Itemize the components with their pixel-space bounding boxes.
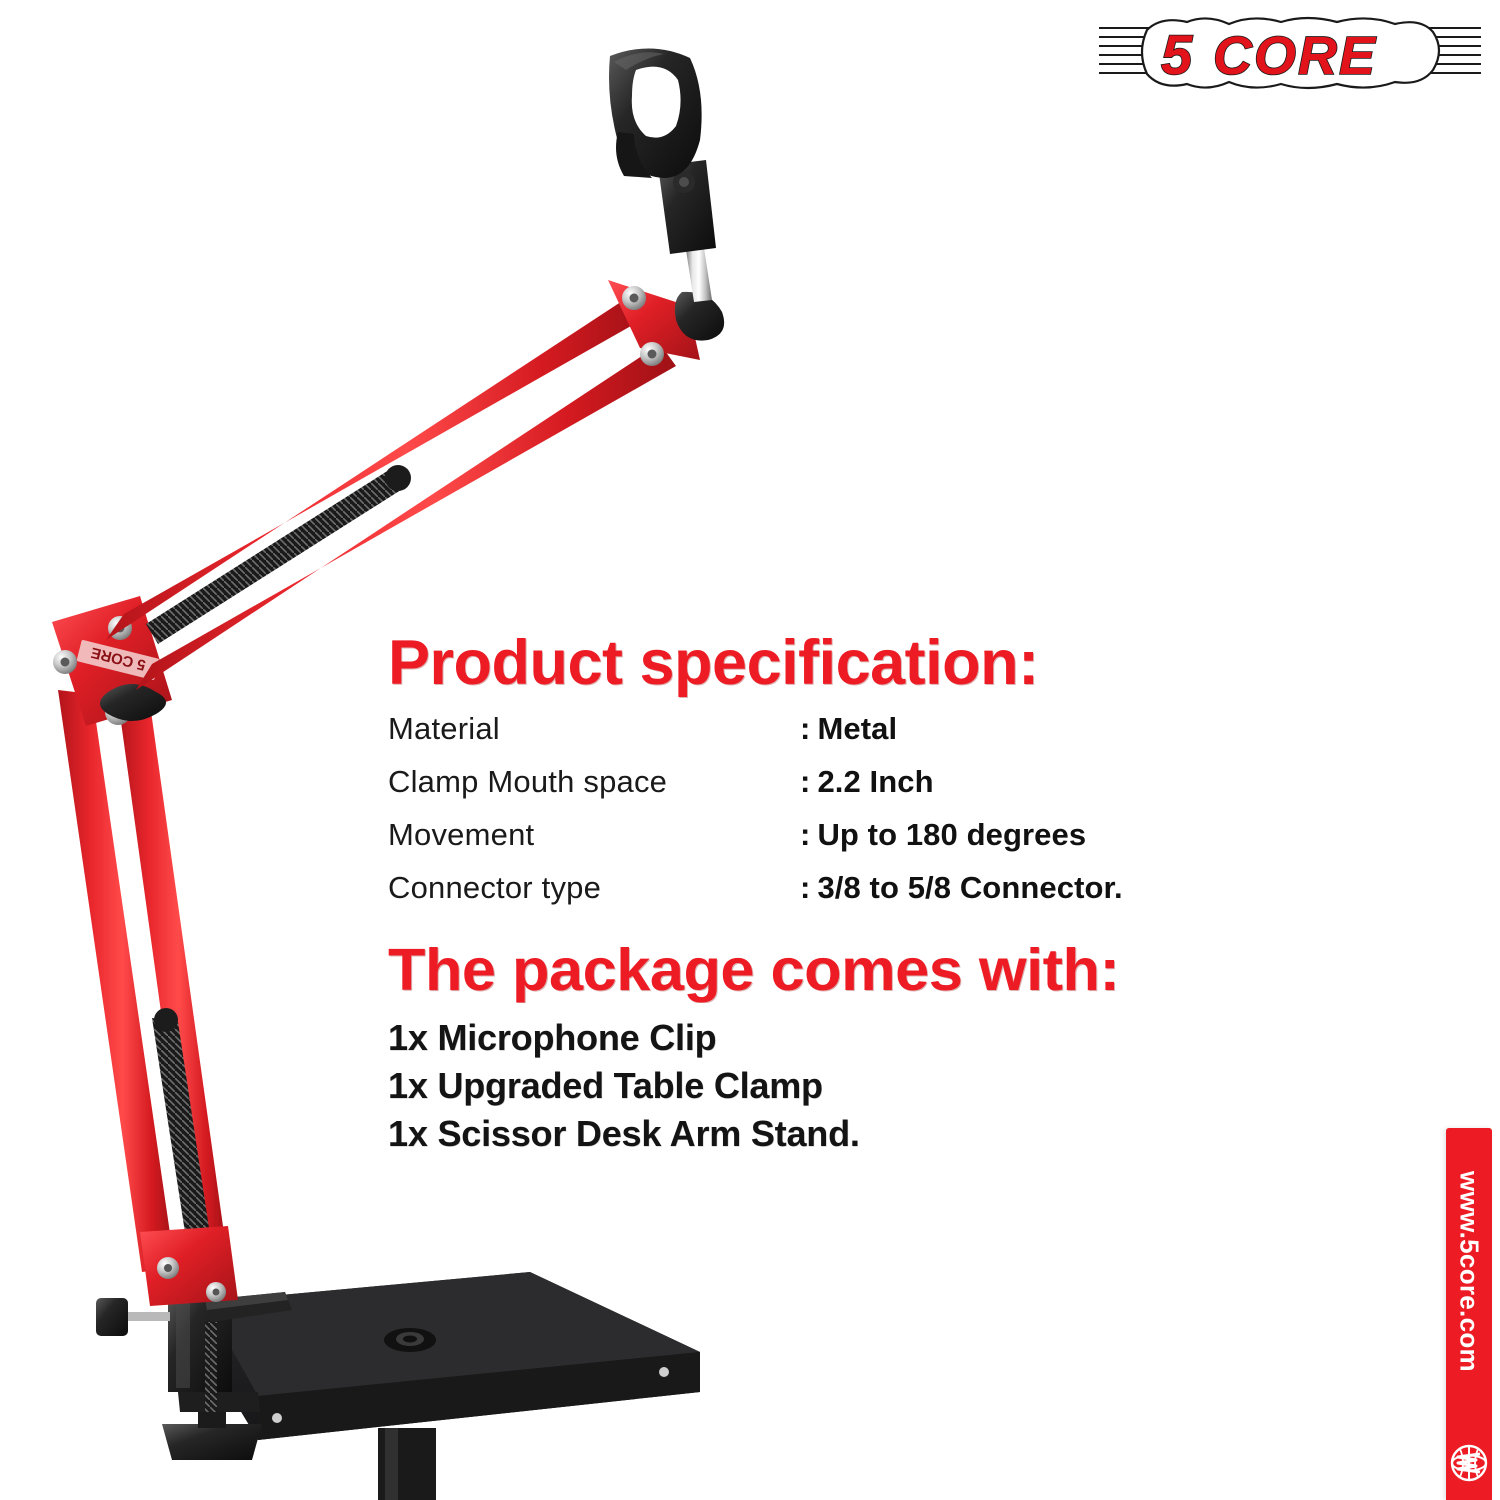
spec-value-text: 3/8 to 5/8 Connector. [817,870,1122,905]
package-item: 1x Scissor Desk Arm Stand. [388,1110,1388,1158]
spec-colon: : [800,711,810,746]
spec-heading: Product specification: [388,632,1388,695]
spec-value-material: :Metal [800,711,897,747]
package-heading: The package comes with: [388,941,1428,1000]
banner-url-text: www.5core.com [1454,1171,1485,1372]
spec-value-text: Metal [817,711,897,746]
spec-value-text: Up to 180 degrees [817,817,1086,852]
spec-colon: : [800,817,810,852]
spec-colon: : [800,870,810,905]
package-list: 1x Microphone Clip 1x Upgraded Table Cla… [388,1014,1388,1158]
specification-panel: Product specification: Material :Metal C… [388,632,1388,1158]
top-joint [608,248,724,366]
microphone-clip [609,48,716,254]
globe-icon [1448,1442,1490,1484]
spec-label-material: Material [388,711,800,747]
spec-row: Clamp Mouth space :2.2 Inch [388,764,1248,817]
package-item: 1x Upgraded Table Clamp [388,1062,1388,1110]
website-banner[interactable]: www.5core.com [1446,1128,1492,1500]
lower-arm [58,690,238,1306]
spec-value-clamp-mouth-space: :2.2 Inch [800,764,934,800]
spec-colon: : [800,764,810,799]
spec-row: Movement :Up to 180 degrees [388,817,1248,870]
spec-label-connector-type: Connector type [388,870,800,906]
package-item: 1x Microphone Clip [388,1014,1388,1062]
spec-row: Connector type :3/8 to 5/8 Connector. [388,870,1248,923]
spec-value-text: 2.2 Inch [817,764,933,799]
brand-logo: 5 CORE [1095,12,1485,94]
spec-value-movement: :Up to 180 degrees [800,817,1086,853]
logo-word: CORE [1213,26,1377,86]
logo-number: 5 [1161,23,1193,86]
spec-table: Material :Metal Clamp Mouth space :2.2 I… [388,711,1248,923]
spec-value-connector-type: :3/8 to 5/8 Connector. [800,870,1123,906]
spec-row: Material :Metal [388,711,1248,764]
spec-label-movement: Movement [388,817,800,853]
spec-label-clamp-mouth-space: Clamp Mouth space [388,764,800,800]
